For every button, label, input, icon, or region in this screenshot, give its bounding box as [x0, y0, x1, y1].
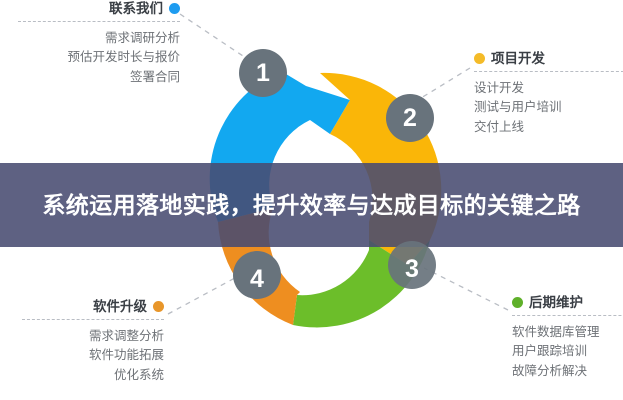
divider [22, 319, 164, 320]
list-item: 用户跟踪培训 [512, 338, 623, 358]
connector-maintenance [424, 268, 508, 310]
page-title: 系统运用落地实践，提升效率与达成目标的关键之路 [32, 190, 592, 220]
block-development-title: 项目开发 [491, 52, 545, 66]
block-upgrade-title: 软件升级 [93, 300, 147, 314]
block-upgrade-header: 软件升级 [22, 300, 164, 314]
block-upgrade: 软件升级 需求调整分析 软件功能拓展 优化系统 [22, 300, 164, 381]
list-item: 测试与用户培训 [474, 94, 623, 114]
list-item: 设计开发 [474, 75, 623, 95]
infographic-canvas: 联系我们 需求调研分析 预估开发时长与报价 签署合同 项目开发 设计开发 测试与… [0, 0, 623, 400]
step-badge-1: 1 [239, 49, 287, 97]
step-badge-1-number: 1 [256, 59, 270, 88]
divider [18, 21, 180, 22]
blue-bullet-dot [169, 3, 180, 14]
step-badge-3-number: 3 [405, 255, 419, 284]
step-badge-2: 2 [386, 94, 434, 142]
list-item: 需求调研分析 [18, 25, 180, 45]
green-bullet-dot [512, 297, 523, 308]
title-banner: 系统运用落地实践，提升效率与达成目标的关键之路 [0, 163, 623, 247]
step-badge-4-number: 4 [250, 265, 264, 294]
connector-contact [180, 14, 252, 62]
divider [474, 71, 623, 72]
divider [512, 315, 623, 316]
list-item: 软件功能拓展 [22, 342, 164, 362]
list-item: 需求调整分析 [22, 323, 164, 343]
list-item: 签署合同 [18, 64, 180, 84]
block-contact-header: 联系我们 [18, 2, 180, 16]
list-item: 优化系统 [22, 362, 164, 382]
block-contact: 联系我们 需求调研分析 预估开发时长与报价 签署合同 [18, 2, 180, 83]
step-badge-3: 3 [388, 241, 436, 289]
list-item: 故障分析解决 [512, 358, 623, 378]
block-maintenance: 后期维护 软件数据库管理 用户跟踪培训 故障分析解决 [512, 296, 623, 377]
list-item: 交付上线 [474, 114, 623, 134]
block-contact-title: 联系我们 [109, 2, 163, 16]
block-development: 项目开发 设计开发 测试与用户培训 交付上线 [474, 52, 623, 133]
step-badge-2-number: 2 [403, 104, 417, 133]
step-badge-4: 4 [233, 251, 281, 299]
orange-bullet-dot [153, 301, 164, 312]
block-development-header: 项目开发 [474, 52, 623, 66]
block-maintenance-header: 后期维护 [512, 296, 623, 310]
yellow-bullet-dot [474, 53, 485, 64]
block-maintenance-title: 后期维护 [529, 296, 583, 310]
list-item: 软件数据库管理 [512, 319, 623, 339]
list-item: 预估开发时长与报价 [18, 44, 180, 64]
